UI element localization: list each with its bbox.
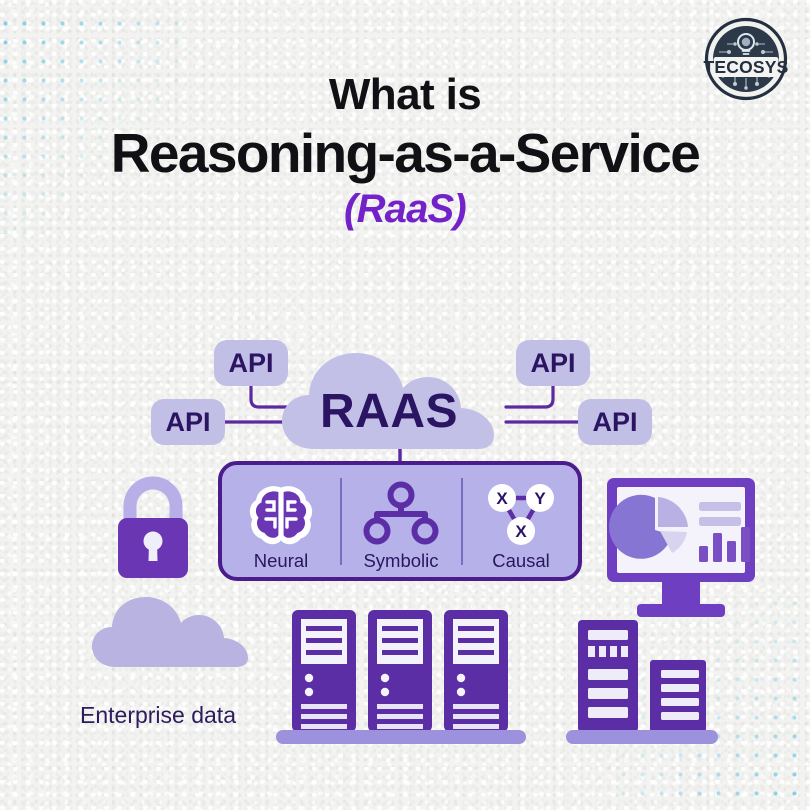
api-node-mid-right[interactable]: API — [578, 399, 652, 445]
server-platform-bar — [276, 730, 526, 744]
brain-icon — [253, 489, 309, 541]
cloud-label: RAAS — [320, 385, 458, 438]
enterprise-buildings[interactable] — [566, 620, 718, 744]
enterprise-cloud-icon — [92, 597, 248, 667]
headline-line-2: Reasoning-as-a-Service — [0, 121, 810, 186]
building-short[interactable] — [650, 660, 706, 732]
server-panel-lines — [458, 626, 494, 655]
server-vent-lines — [453, 704, 499, 729]
capability-label: Causal — [492, 550, 550, 571]
api-node-top-left[interactable]: API — [214, 340, 288, 386]
raas-cloud[interactable]: RAAS — [282, 353, 494, 449]
causal-node-label: Y — [534, 489, 546, 508]
api-node-mid-left[interactable]: API — [151, 399, 225, 445]
buildings-platform-bar — [566, 730, 718, 744]
capability-label: Symbolic — [363, 550, 438, 571]
server-tower[interactable] — [444, 610, 508, 732]
server-vent-lines — [377, 704, 423, 729]
building-tall[interactable] — [578, 620, 638, 732]
capabilities-panel[interactable]: Neural Symbolic X — [220, 463, 580, 579]
server-panel-lines — [382, 626, 418, 655]
server-rack-group[interactable] — [276, 610, 526, 744]
api-label: API — [228, 348, 273, 378]
server-vent-lines — [301, 704, 347, 729]
capability-label: Neural — [254, 550, 309, 571]
causal-node-x2: X — [507, 517, 535, 545]
monitor-stand-icon — [637, 604, 725, 617]
server-tower[interactable] — [292, 610, 356, 732]
padlock-keyslot-icon — [149, 543, 158, 561]
causal-node-label: X — [515, 522, 527, 541]
causal-node-y: Y — [526, 484, 554, 512]
enterprise-data-node[interactable]: Enterprise data — [80, 597, 248, 728]
api-label: API — [592, 407, 637, 437]
causal-node-label: X — [496, 489, 508, 508]
monitor-neck-icon — [662, 582, 700, 604]
server-tower[interactable] — [368, 610, 432, 732]
api-label: API — [165, 407, 210, 437]
api-node-top-right[interactable]: API — [516, 340, 590, 386]
headline-line-3: (RaaS) — [0, 187, 810, 231]
security-padlock[interactable] — [118, 483, 188, 578]
headline-block: What is Reasoning-as-a-Service (RaaS) — [0, 72, 810, 231]
headline-line-1: What is — [0, 72, 810, 118]
enterprise-data-label: Enterprise data — [80, 702, 236, 728]
server-panel-lines — [306, 626, 342, 655]
padlock-shackle-icon — [130, 483, 176, 520]
analytics-monitor[interactable] — [607, 478, 755, 617]
api-label: API — [530, 348, 575, 378]
capability-neural[interactable]: Neural — [253, 489, 309, 571]
causal-node-x1: X — [488, 484, 516, 512]
raas-architecture-diagram: RAAS API API API API — [0, 275, 810, 775]
